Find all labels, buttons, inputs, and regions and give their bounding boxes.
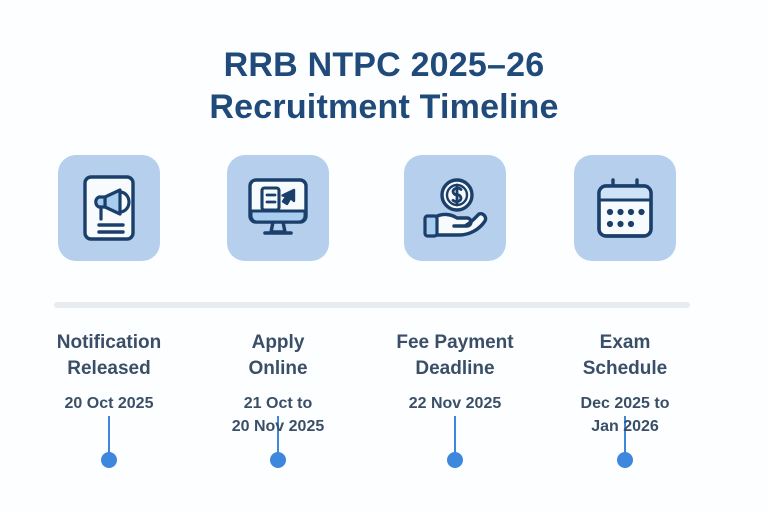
timeline-infographic: RRB NTPC 2025–26 Recruitment Timeline No… [0,0,768,512]
milestone-dot [270,452,286,468]
milestone-title: Fee Payment Deadline [365,330,545,382]
hand-holding-dollar-coin-icon [421,176,489,240]
icon-card-apply-online [227,155,329,261]
desktop-monitor-apply-online-icon [245,176,311,240]
milestone-labels: Fee Payment Deadline 22 Nov 2025 [365,330,545,415]
milestone-title-line-1: Exam [535,330,715,356]
milestone-title: Exam Schedule [535,330,715,382]
milestone-date-line-2: Jan 2026 [535,415,715,438]
milestone-date: 20 Oct 2025 [19,392,199,415]
title-line-2: Recruitment Timeline [0,86,768,128]
milestone-notification-released: Notification Released 20 Oct 2025 [19,155,199,261]
milestone-title-line-2: Schedule [535,356,715,382]
milestone-date-line-1: 20 Oct 2025 [19,392,199,415]
milestone-date-line-1: 22 Nov 2025 [365,392,545,415]
milestone-title-line-2: Deadline [365,356,545,382]
milestone-date: Dec 2025 to Jan 2026 [535,392,715,438]
icon-card-exam-schedule [574,155,676,261]
milestone-date-line-1: Dec 2025 to [535,392,715,415]
milestone-title-line-1: Notification [19,330,199,356]
milestone-dot [447,452,463,468]
icon-card-fee-payment [404,155,506,261]
milestone-apply-online: Apply Online 21 Oct to 20 Nov 2025 [188,155,368,261]
milestone-date: 21 Oct to 20 Nov 2025 [188,392,368,438]
milestone-dot [617,452,633,468]
milestone-dot [101,452,117,468]
calendar-icon [593,176,657,240]
milestone-labels: Notification Released 20 Oct 2025 [19,330,199,415]
milestone-date-line-2: 20 Nov 2025 [188,415,368,438]
milestone-title-line-1: Fee Payment [365,330,545,356]
milestone-title-line-2: Online [188,356,368,382]
milestone-title-line-1: Apply [188,330,368,356]
timeline-axis [54,302,690,308]
milestone-title: Apply Online [188,330,368,382]
milestone-fee-payment-deadline: Fee Payment Deadline 22 Nov 2025 [365,155,545,261]
milestone-title-line-2: Released [19,356,199,382]
announcement-document-megaphone-icon [78,174,140,242]
milestone-date: 22 Nov 2025 [365,392,545,415]
milestone-date-line-1: 21 Oct to [188,392,368,415]
milestone-exam-schedule: Exam Schedule Dec 2025 to Jan 2026 [535,155,715,261]
title-line-1: RRB NTPC 2025–26 [0,44,768,86]
milestone-title: Notification Released [19,330,199,382]
icon-card-notification [58,155,160,261]
milestone-labels: Apply Online 21 Oct to 20 Nov 2025 [188,330,368,438]
milestone-labels: Exam Schedule Dec 2025 to Jan 2026 [535,330,715,438]
page-title: RRB NTPC 2025–26 Recruitment Timeline [0,44,768,128]
